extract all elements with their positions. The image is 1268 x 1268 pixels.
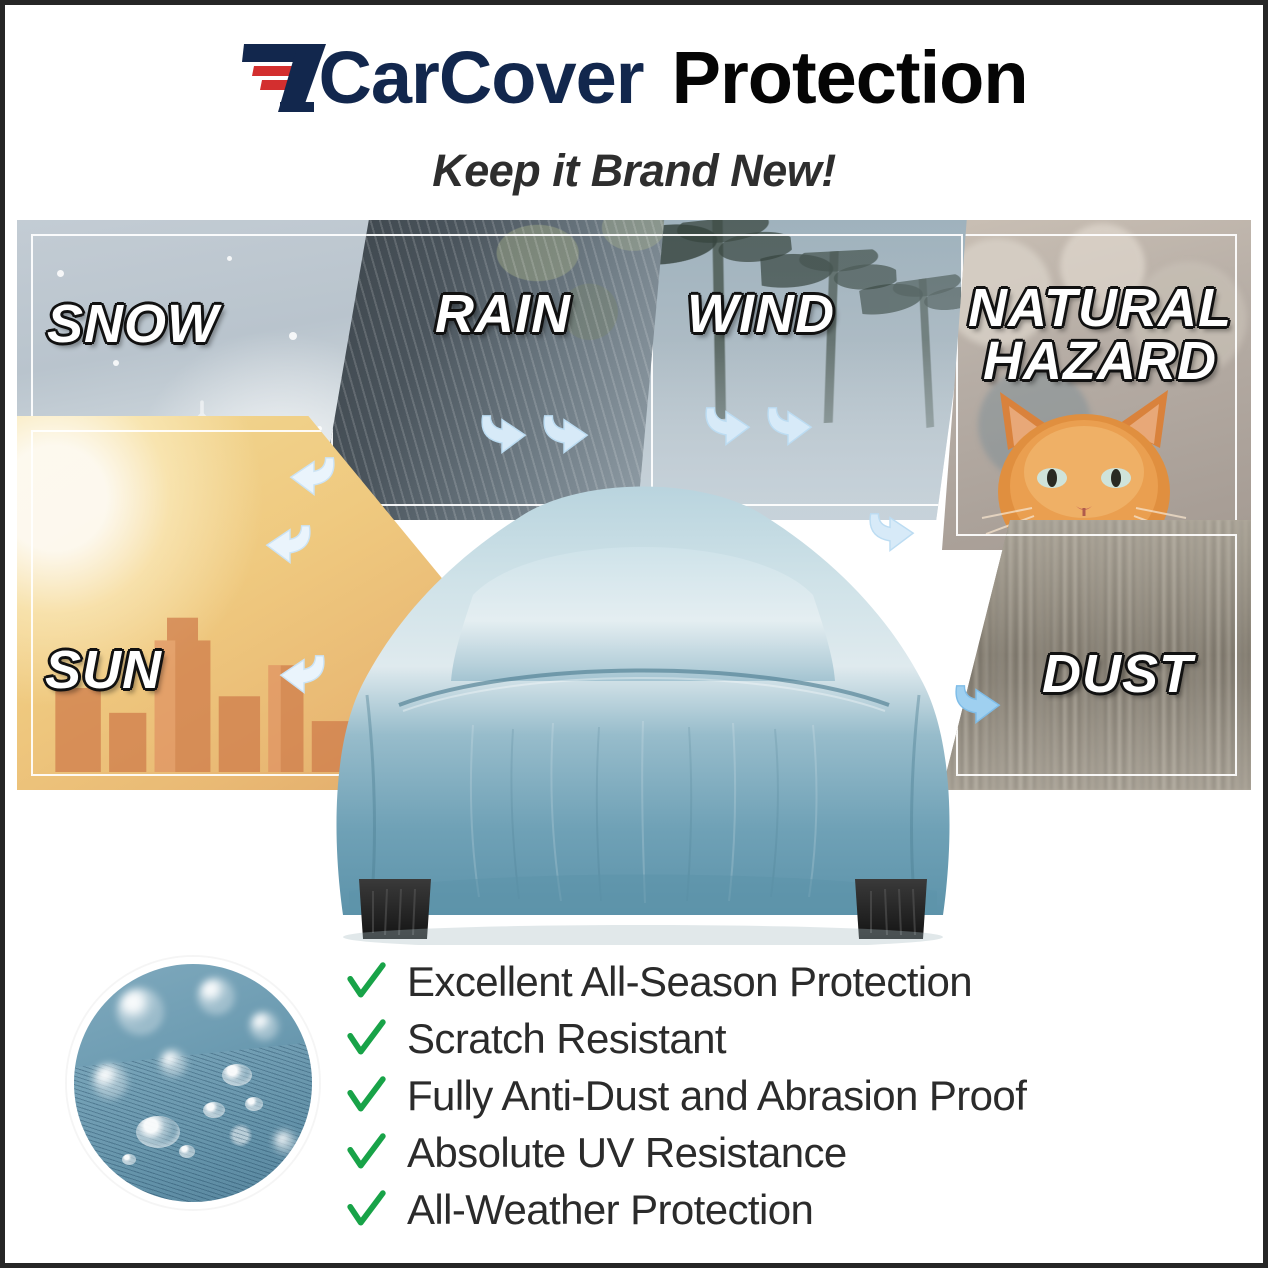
panel-label-wind: WIND	[687, 288, 835, 341]
snow-dot	[289, 332, 297, 340]
feature-item: All-Weather Protection	[345, 1181, 1165, 1238]
snow-dot	[113, 360, 119, 366]
feature-item: Scratch Resistant	[345, 1010, 1165, 1067]
green-check-icon	[345, 1189, 387, 1231]
panel-dust: DUST	[942, 520, 1251, 790]
panel-label-sun: SUN	[45, 644, 162, 697]
snow-dot	[227, 256, 232, 261]
brand-row: CarCover Protection	[5, 33, 1263, 123]
feature-label: Fully Anti-Dust and Abrasion Proof	[407, 1075, 1026, 1117]
green-check-icon	[345, 1075, 387, 1117]
green-check-icon	[345, 1018, 387, 1060]
feature-label: Excellent All-Season Protection	[407, 961, 972, 1003]
feature-item: Fully Anti-Dust and Abrasion Proof	[345, 1067, 1165, 1124]
brand-suffix: Protection	[672, 41, 1028, 115]
water-drop	[117, 988, 163, 1034]
feature-item: Excellent All-Season Protection	[345, 953, 1165, 1010]
panel-label-rain: RAIN	[435, 288, 571, 341]
covered-car-front-view	[323, 445, 963, 945]
feature-label: Absolute UV Resistance	[407, 1132, 847, 1174]
feature-list: Excellent All-Season Protection Scratch …	[345, 953, 1165, 1238]
water-drop	[136, 1116, 180, 1148]
product-infographic: CarCover Protection Keep it Brand New!	[0, 0, 1268, 1268]
tagline: Keep it Brand New!	[5, 145, 1263, 197]
header: CarCover Protection Keep it Brand New!	[5, 5, 1263, 205]
water-drop	[222, 1064, 252, 1086]
water-drop	[198, 978, 234, 1014]
water-drop	[160, 1050, 186, 1076]
panel-natural-hazard: NATURAL HAZARD	[942, 220, 1251, 550]
bounce-arrow-icon	[261, 520, 319, 578]
feature-item: Absolute UV Resistance	[345, 1124, 1165, 1181]
snow-dot	[57, 270, 64, 277]
onecarcover-flag-logo-icon	[240, 42, 336, 114]
water-drop	[250, 1012, 278, 1040]
panel-label-hazard: NATURAL HAZARD	[960, 282, 1240, 388]
water-drop	[93, 1064, 127, 1098]
feature-label: Scratch Resistant	[407, 1018, 726, 1060]
water-drop	[179, 1145, 195, 1158]
water-beading-swatch	[67, 957, 319, 1209]
panel-label-dust: DUST	[1042, 648, 1193, 701]
water-drop	[274, 1131, 296, 1153]
green-check-icon	[345, 1132, 387, 1174]
feature-label: All-Weather Protection	[407, 1189, 813, 1231]
brand-name: CarCover	[318, 41, 643, 115]
green-check-icon	[345, 961, 387, 1003]
panel-label-snow: SNOW	[47, 298, 219, 351]
water-drop	[203, 1102, 225, 1118]
